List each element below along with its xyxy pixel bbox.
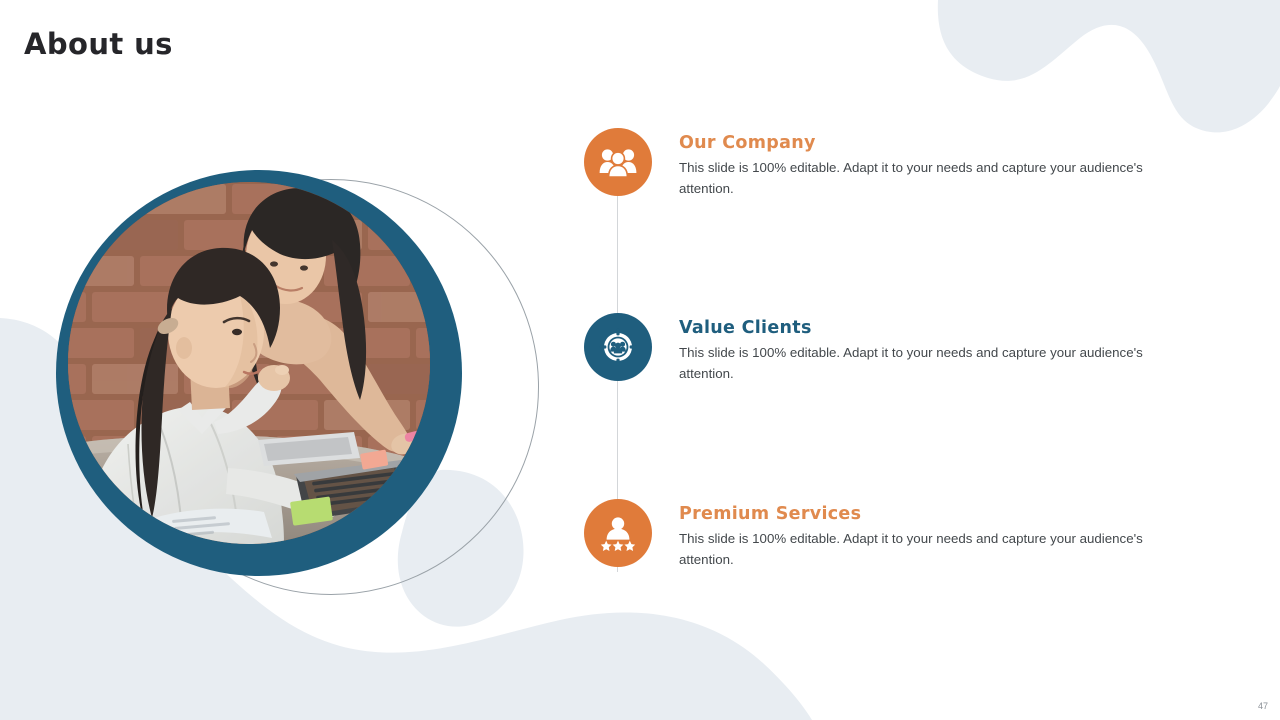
feature-heading: Premium Services	[679, 505, 1169, 524]
feature-list: Our Company This slide is 100% editable.…	[584, 120, 1204, 600]
feature-description: This slide is 100% editable. Adapt it to…	[679, 158, 1169, 199]
person-stars-icon	[599, 515, 637, 551]
feature-icon-badge[interactable]	[584, 128, 652, 196]
feature-text-block: Premium Services This slide is 100% edit…	[679, 505, 1169, 570]
feature-text-block: Value Clients This slide is 100% editabl…	[679, 319, 1169, 384]
feature-item-value-clients[interactable]: Value Clients This slide is 100% editabl…	[584, 313, 1204, 423]
page-title: About us	[24, 27, 173, 61]
feature-heading: Our Company	[679, 134, 1169, 153]
group-people-icon	[599, 147, 637, 177]
feature-heading: Value Clients	[679, 319, 1169, 338]
feature-description: This slide is 100% editable. Adapt it to…	[679, 529, 1169, 570]
target-people-icon	[599, 328, 637, 366]
feature-item-premium-services[interactable]: Premium Services This slide is 100% edit…	[584, 499, 1204, 609]
blob-top-right	[938, 0, 1280, 132]
feature-icon-badge[interactable]	[584, 313, 652, 381]
feature-icon-badge[interactable]	[584, 499, 652, 567]
feature-description: This slide is 100% editable. Adapt it to…	[679, 343, 1169, 384]
team-photo	[68, 182, 430, 544]
photo-cluster	[46, 160, 516, 600]
feature-text-block: Our Company This slide is 100% editable.…	[679, 134, 1169, 199]
page-number: 47	[1258, 701, 1268, 711]
feature-item-our-company[interactable]: Our Company This slide is 100% editable.…	[584, 128, 1204, 238]
